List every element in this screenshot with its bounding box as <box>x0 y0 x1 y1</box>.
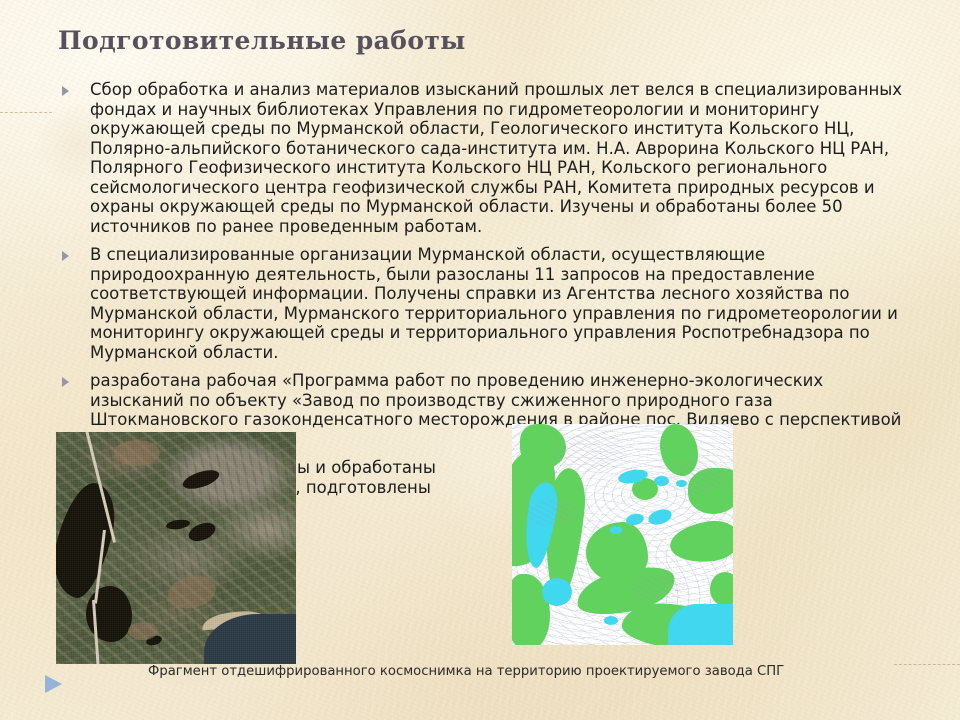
map-hatching-layer <box>512 424 733 645</box>
triangle-bullet-icon <box>62 86 69 96</box>
bullet-item-2: В специализированные организации Мурманс… <box>58 245 914 362</box>
triangle-bullet-icon <box>62 251 69 261</box>
slide-canvas: Подготовительные работы Сбор обработка и… <box>0 0 960 720</box>
satellite-noise-layer <box>56 432 296 664</box>
satellite-image <box>56 432 296 664</box>
bullet-text-1: Сбор обработка и анализ материалов изыск… <box>90 80 902 236</box>
interpreted-map-image <box>512 424 733 645</box>
decorative-dashed-rule-left <box>0 112 52 113</box>
figure-caption: Фрагмент отдешифрированного космоснимка … <box>148 664 784 679</box>
decorative-dashed-rule-right <box>894 664 960 665</box>
bullet-text-2: В специализированные организации Мурманс… <box>90 245 898 362</box>
bullet-item-1: Сбор обработка и анализ материалов изыск… <box>58 80 914 236</box>
slide-title: Подготовительные работы <box>58 26 466 55</box>
triangle-bullet-icon <box>62 377 69 387</box>
next-slide-button[interactable] <box>45 675 62 693</box>
